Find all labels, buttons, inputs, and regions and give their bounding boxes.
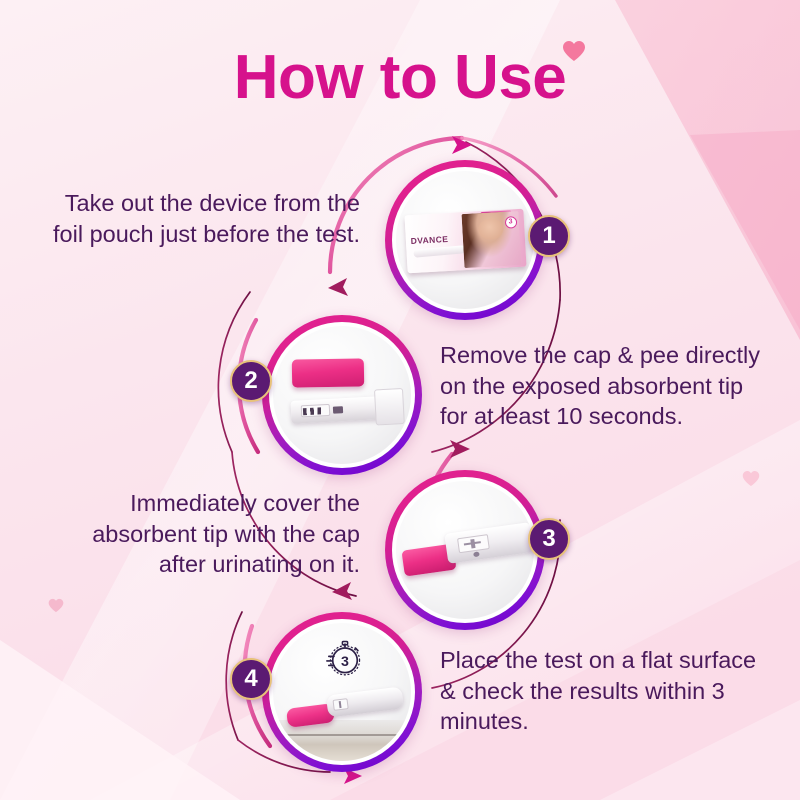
test-device-body (290, 395, 401, 424)
heart-bottom-left-icon (48, 598, 64, 613)
result-window (332, 698, 348, 711)
step-3-image-bubble (385, 470, 545, 630)
step-4-image-bubble: 3 (262, 612, 422, 772)
box-brand-label: DVANCE (410, 234, 448, 246)
uncapped-test-device-photo (273, 326, 411, 464)
step-1-bubble-inner-ring: DVANCE 3 (392, 167, 538, 313)
step-1-text: Take out the device from the foil pouch … (52, 188, 360, 249)
test-device-body (326, 686, 404, 717)
removed-pink-cap (292, 358, 364, 387)
step-3-bubble-inner-ring (392, 477, 538, 623)
device-arrow-mark (333, 406, 343, 414)
step-2-number-badge: 2 (230, 360, 272, 402)
step-2-text: Remove the cap & pee directly on the exp… (440, 340, 776, 432)
arrow-step-1-to-2 (328, 278, 348, 296)
result-window (457, 534, 490, 553)
capped-test-device-photo (396, 481, 534, 619)
foil-pouch-retail-box-photo: DVANCE 3 (396, 171, 534, 309)
step-2-image-bubble (262, 315, 422, 475)
stopwatch-icon: 3 (323, 637, 364, 678)
step-3-number-badge: 3 (528, 518, 570, 560)
page-title: How to Use (0, 47, 800, 109)
step-1-number-badge: 1 (528, 215, 570, 257)
absorbent-tip (374, 388, 404, 425)
result-bars (303, 406, 323, 415)
step-4-text: Place the test on a flat surface & check… (440, 645, 760, 737)
stopwatch-minutes-value: 3 (341, 654, 349, 670)
step-1-image-bubble: DVANCE 3 (385, 160, 545, 320)
test-on-flat-surface-photo: 3 (273, 623, 411, 761)
device-dot-mark (473, 552, 480, 558)
heart-mid-right-icon (742, 470, 760, 487)
step-2-bubble-inner-ring (269, 322, 415, 468)
arrow-step-3-to-4 (332, 582, 352, 600)
test-device-body (444, 522, 533, 564)
step-3-text: Immediately cover the absorbent tip with… (60, 488, 360, 580)
step-4-bubble-inner-ring: 3 (269, 619, 415, 765)
retail-box: DVANCE 3 (404, 209, 526, 273)
step-4-number-badge: 4 (230, 658, 272, 700)
box-stick-graphic (413, 245, 466, 257)
